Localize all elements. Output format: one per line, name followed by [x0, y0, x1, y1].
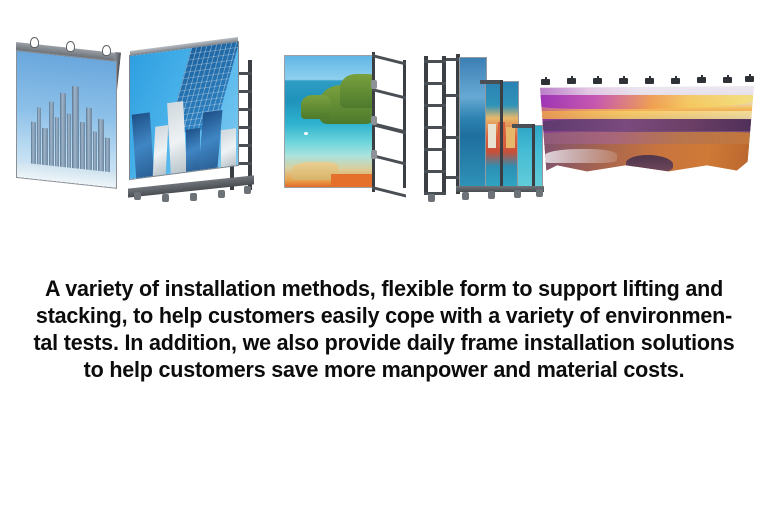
- frame-beam: [372, 122, 406, 134]
- leveling-foot: [134, 192, 141, 200]
- hang-eyelet-icon: [66, 41, 75, 52]
- caption-line-4: to help customers save more manpower and…: [17, 356, 750, 383]
- frame-beam: [372, 54, 406, 65]
- product-cabinet-open-frame: [285, 50, 410, 200]
- screenshot-root: A variety of installation methods, flexi…: [0, 0, 768, 512]
- screen-content-coastline: [285, 56, 373, 187]
- product-ground-stack-wall: [124, 42, 264, 202]
- step-support-post: [500, 80, 503, 188]
- led-step-panel-1: [460, 58, 486, 188]
- hanging-clamp-icon: [618, 76, 629, 85]
- base-rail: [456, 186, 544, 192]
- caption-line-1: A variety of installation methods, flexi…: [17, 275, 750, 302]
- truss-post: [424, 56, 428, 194]
- frame-post: [403, 60, 406, 188]
- leveling-foot: [488, 191, 495, 199]
- hanging-clamp-icon: [592, 76, 603, 85]
- truss-rung: [424, 148, 446, 151]
- truss-post: [442, 56, 446, 194]
- step-support-post: [532, 124, 535, 188]
- leveling-foot: [514, 190, 521, 198]
- product-gallery: [0, 0, 768, 215]
- hanging-clamp-icon: [540, 77, 551, 86]
- leveling-foot: [244, 186, 251, 194]
- screen-content-skyline: [17, 51, 116, 188]
- led-screen-surface: [17, 51, 116, 188]
- frame-beam: [372, 186, 406, 197]
- hang-eyelet-icon: [30, 37, 39, 48]
- truss-rung: [446, 58, 460, 61]
- truss-rung: [424, 104, 446, 107]
- leveling-foot: [162, 194, 169, 202]
- led-screen-surface: [130, 42, 238, 179]
- truss-rung: [446, 136, 460, 139]
- cabinet-latch: [371, 80, 377, 89]
- cabinet-latch: [371, 116, 377, 125]
- frame-beam: [372, 88, 406, 99]
- hanging-clamp-icon: [644, 76, 655, 85]
- product-flexible-hanging-banner: [536, 74, 758, 184]
- hang-eyelet-icon: [102, 45, 111, 56]
- truss-rung: [424, 82, 446, 85]
- caption-block: A variety of installation methods, flexi…: [17, 275, 750, 383]
- led-screen-surface: [540, 86, 754, 174]
- screen-content-glass-towers: [130, 42, 238, 179]
- leveling-foot: [428, 194, 435, 202]
- product-stepped-stair-wall: [420, 48, 545, 203]
- leveling-foot: [190, 193, 197, 201]
- caption-line-2: stacking, to help customers easily cope …: [17, 302, 750, 329]
- leveling-foot: [536, 189, 543, 197]
- truss-rung: [424, 126, 446, 129]
- truss-rung: [446, 176, 460, 179]
- caption-line-3: tal tests. In addition, we also provide …: [17, 329, 750, 356]
- hanging-clamp-icon: [670, 76, 681, 85]
- leveling-foot: [462, 192, 469, 200]
- hanging-clamp-icon: [722, 75, 733, 84]
- step-support-arm: [512, 124, 534, 128]
- leveling-foot: [218, 190, 225, 198]
- screen-content-sunset-dunes: [540, 86, 754, 174]
- hanging-clamp-icon: [566, 76, 577, 85]
- hanging-clamp-icon: [744, 74, 755, 83]
- truss-rung: [424, 170, 446, 173]
- cabinet-latch: [371, 150, 377, 159]
- truss-rung: [446, 94, 460, 97]
- truss-rung: [424, 60, 446, 63]
- truss-post: [248, 60, 252, 190]
- product-hanging-flat-panel: [14, 30, 134, 195]
- frame-beam: [372, 154, 406, 165]
- hanging-clamp-icon: [696, 75, 707, 84]
- step-support-arm: [480, 80, 502, 84]
- led-screen-surface: [285, 56, 373, 187]
